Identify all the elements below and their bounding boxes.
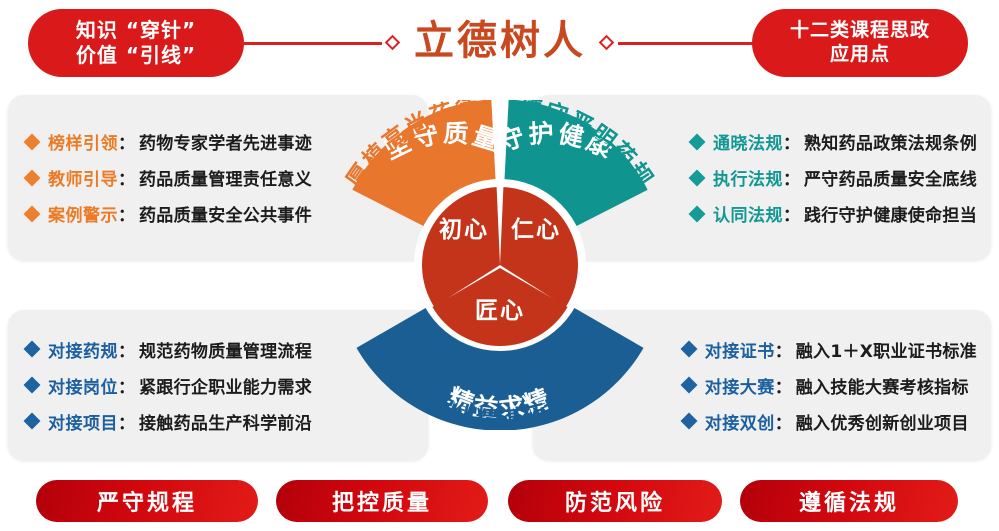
list-item-colon: ： xyxy=(118,409,135,434)
footer-pill-3[interactable]: 遵循法规 xyxy=(740,480,958,522)
list-item[interactable]: 执行法规 ： 严守药品质量安全底线 xyxy=(691,165,977,190)
core-label-jiangxin: 匠心 xyxy=(475,298,525,324)
list-item-desc: 规范药物质量管理流程 xyxy=(139,337,312,362)
diamond-bullet-icon xyxy=(689,169,706,186)
list-item[interactable]: 对接药规 ： 规范药物质量管理流程 xyxy=(26,337,312,362)
list-item-label: 对接双创 xyxy=(705,409,775,434)
diamond-bullet-icon xyxy=(24,205,41,222)
list-item-desc: 接触药品生产科学前沿 xyxy=(139,409,312,434)
list-item-desc: 融入1＋X职业证书标准 xyxy=(796,337,977,362)
footer-pill-2[interactable]: 防范风险 xyxy=(508,480,722,522)
footer-pill-1[interactable]: 把控质量 xyxy=(276,480,488,522)
list-item[interactable]: 对接证书 ： 融入1＋X职业证书标准 xyxy=(683,337,977,362)
list-item-label: 认同法规 xyxy=(713,201,783,226)
list-item-label: 通晓法规 xyxy=(713,129,783,154)
header-pill-left[interactable]: 知识 “穿针” 价值 “引线” xyxy=(28,9,244,77)
list-item-label: 对接大赛 xyxy=(705,373,775,398)
list-item-desc: 药品质量安全公共事件 xyxy=(139,201,312,226)
list-item-label: 教师引导 xyxy=(48,165,118,190)
list-item-colon: ： xyxy=(783,129,800,154)
header-pill-left-line2: 价值 “引线” xyxy=(76,43,196,68)
list-item-desc: 融入优秀创新创业项目 xyxy=(796,409,969,434)
list-item-desc: 严守药品质量安全底线 xyxy=(804,165,977,190)
list-item-desc: 药物专家学者先进事迹 xyxy=(139,129,312,154)
page-title: 立德树人 xyxy=(410,8,590,74)
diamond-icon-right xyxy=(599,35,615,51)
diamond-bullet-icon xyxy=(680,413,697,430)
list-item-label: 案例警示 xyxy=(48,201,118,226)
list-item-desc: 融入技能大赛考核指标 xyxy=(796,373,969,398)
header-pill-right-line2: 应用点 xyxy=(830,43,890,67)
connector-line-right xyxy=(618,42,758,45)
diamond-bullet-icon xyxy=(689,205,706,222)
diamond-bullet-icon xyxy=(24,413,41,430)
list-item[interactable]: 对接双创 ： 融入优秀创新创业项目 xyxy=(683,409,977,434)
list-item-colon: ： xyxy=(775,409,792,434)
panel-bottom-left-rows: 对接药规 ： 规范药物质量管理流程 对接岗位 ： 紧跟行企职业能力需求 对接项目… xyxy=(26,310,312,460)
list-item-desc: 熟知药品政策法规条例 xyxy=(804,129,977,154)
diamond-bullet-icon xyxy=(689,133,706,150)
list-item-label: 榜样引领 xyxy=(48,129,118,154)
list-item[interactable]: 对接岗位 ： 紧跟行企职业能力需求 xyxy=(26,373,312,398)
footer: 严守规程 把控质量 防范风险 遵循法规 xyxy=(0,472,999,531)
infographic-root: 知识 “穿针” 价值 “引线” 立德树人 十二类课程思政 应用点 榜样引领 ： … xyxy=(0,0,999,531)
header-pill-left-line1: 知识 “穿针” xyxy=(76,18,196,43)
list-item[interactable]: 对接项目 ： 接触药品生产科学前沿 xyxy=(26,409,312,434)
diamond-bullet-icon xyxy=(24,341,41,358)
list-item-colon: ： xyxy=(118,337,135,362)
list-item-colon: ： xyxy=(118,165,135,190)
list-item-colon: ： xyxy=(118,201,135,226)
diamond-bullet-icon xyxy=(24,377,41,394)
list-item-colon: ： xyxy=(118,129,135,154)
list-item[interactable]: 榜样引领 ： 药物专家学者先进事迹 xyxy=(26,129,312,154)
list-item[interactable]: 案例警示 ： 药品质量安全公共事件 xyxy=(26,201,312,226)
footer-pill-0[interactable]: 严守规程 xyxy=(36,480,258,522)
panel-bottom-right-rows: 对接证书 ： 融入1＋X职业证书标准 对接大赛 ： 融入技能大赛考核指标 对接双… xyxy=(683,310,977,460)
list-item-colon: ： xyxy=(783,165,800,190)
panel-top-right-rows: 通晓法规 ： 熟知药品政策法规条例 执行法规 ： 严守药品质量安全底线 认同法规… xyxy=(691,95,977,260)
list-item-label: 对接岗位 xyxy=(48,373,118,398)
list-item-desc: 药品质量管理责任意义 xyxy=(139,165,312,190)
panel-top-left-rows: 榜样引领 ： 药物专家学者先进事迹 教师引导 ： 药品质量管理责任意义 案例警示… xyxy=(26,95,312,260)
diamond-icon-left xyxy=(385,35,401,51)
list-item-label: 对接项目 xyxy=(48,409,118,434)
diamond-bullet-icon xyxy=(680,341,697,358)
header-pill-right[interactable]: 十二类课程思政 应用点 xyxy=(752,9,968,77)
list-item-colon: ： xyxy=(775,373,792,398)
list-item-colon: ： xyxy=(775,337,792,362)
diamond-bullet-icon xyxy=(24,133,41,150)
list-item-label: 对接证书 xyxy=(705,337,775,362)
header: 知识 “穿针” 价值 “引线” 立德树人 十二类课程思政 应用点 xyxy=(0,0,999,88)
core-label-chuxin: 初心 xyxy=(439,216,489,243)
list-item-desc: 紧跟行企职业能力需求 xyxy=(139,373,312,398)
connector-line-left xyxy=(240,42,382,45)
diamond-bullet-icon xyxy=(680,377,697,394)
list-item-colon: ： xyxy=(783,201,800,226)
list-item[interactable]: 认同法规 ： 践行守护健康使命担当 xyxy=(691,201,977,226)
list-item-label: 执行法规 xyxy=(713,165,783,190)
list-item-colon: ： xyxy=(118,373,135,398)
center-donut-diagram: 坚守质量 守护健康 精益求精 厚植高尚药德 遵守 xyxy=(335,100,665,430)
header-pill-right-line1: 十二类课程思政 xyxy=(790,19,930,43)
list-item[interactable]: 对接大赛 ： 融入技能大赛考核指标 xyxy=(683,373,977,398)
list-item[interactable]: 教师引导 ： 药品质量管理责任意义 xyxy=(26,165,312,190)
diamond-bullet-icon xyxy=(24,169,41,186)
list-item[interactable]: 通晓法规 ： 熟知药品政策法规条例 xyxy=(691,129,977,154)
core-label-renxin: 仁心 xyxy=(511,216,561,243)
list-item-label: 对接药规 xyxy=(48,337,118,362)
list-item-desc: 践行守护健康使命担当 xyxy=(804,201,977,226)
